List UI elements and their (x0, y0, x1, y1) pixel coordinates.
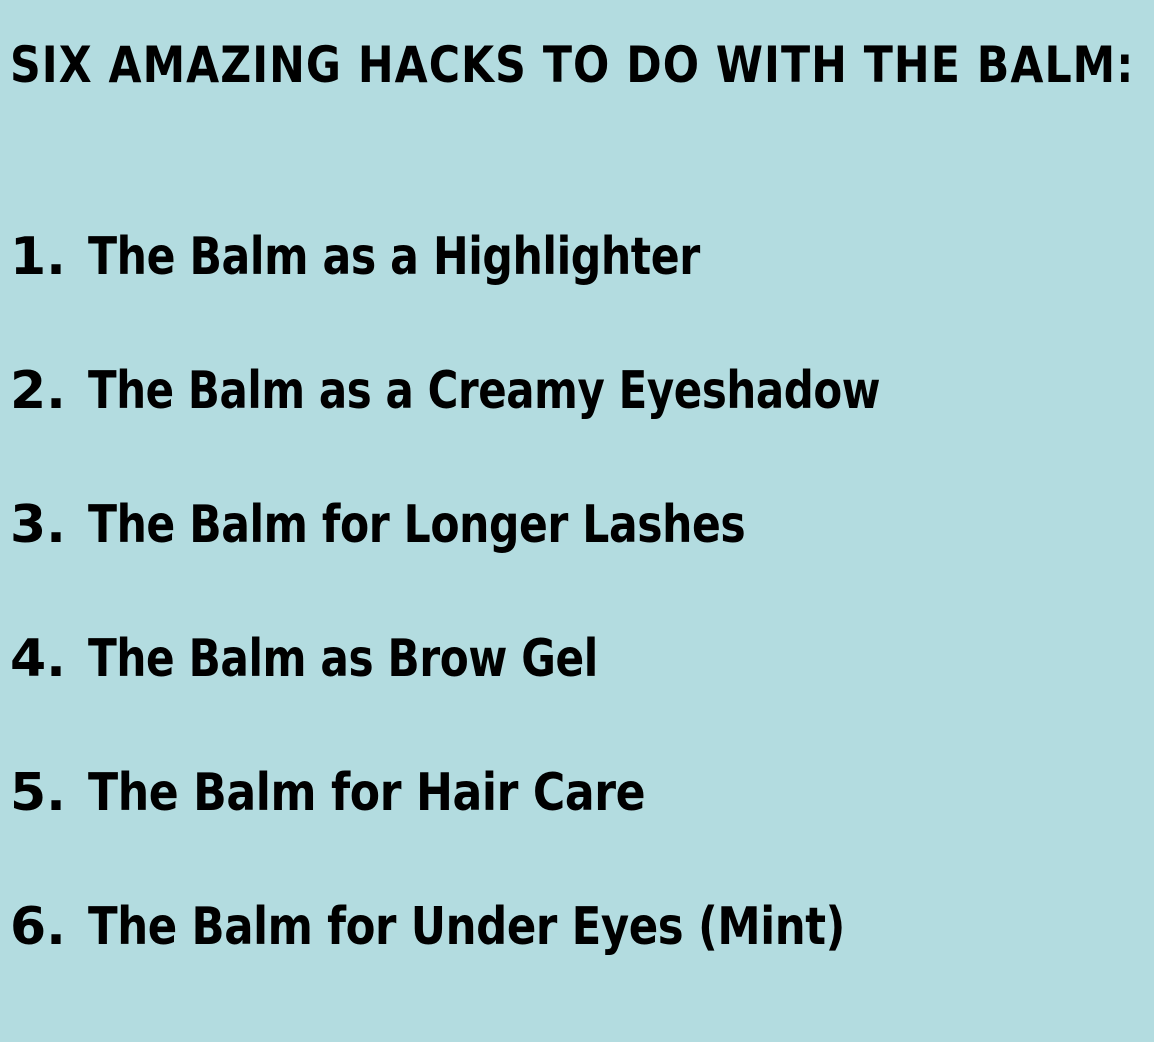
list-item-label: The Balm as Brow Gel (88, 630, 598, 688)
list-item-number: 3. (10, 496, 88, 554)
list-item-label: The Balm for Longer Lashes (88, 496, 745, 554)
list-item: 2. The Balm as a Creamy Eyeshadow (0, 362, 1154, 496)
list-item-number: 2. (10, 362, 88, 420)
list-item-number: 6. (10, 898, 88, 956)
list-item-label: The Balm for Under Eyes (Mint) (88, 898, 845, 956)
list-item: 4. The Balm as Brow Gel (0, 630, 1154, 764)
list-item-label: The Balm as a Highlighter (88, 228, 700, 286)
list-item: 6. The Balm for Under Eyes (Mint) (0, 898, 1154, 1032)
poster-canvas: SIX AMAZING HACKS TO DO WITH THE BALM: 1… (0, 0, 1154, 1042)
list-item: 5. The Balm for Hair Care (0, 764, 1154, 898)
list-item-number: 1. (10, 228, 88, 286)
list-item-label: The Balm as a Creamy Eyeshadow (88, 362, 880, 420)
page-title: SIX AMAZING HACKS TO DO WITH THE BALM: (10, 40, 979, 90)
list-item-number: 4. (10, 630, 88, 688)
list-item-number: 5. (10, 764, 88, 822)
list-item: 1. The Balm as a Highlighter (0, 228, 1154, 362)
list-item-label: The Balm for Hair Care (88, 764, 645, 822)
hacks-list: 1. The Balm as a Highlighter 2. The Balm… (0, 228, 1154, 1032)
list-item: 3. The Balm for Longer Lashes (0, 496, 1154, 630)
